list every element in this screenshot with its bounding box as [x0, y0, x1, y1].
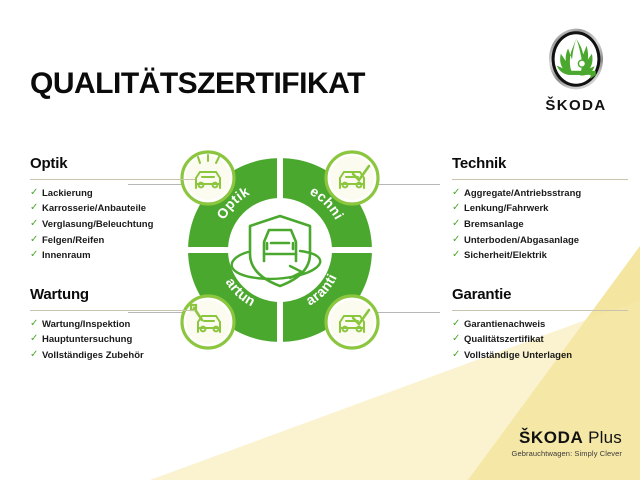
list-item-label: Wartung/Inspektion [42, 319, 130, 330]
list-item-label: Aggregate/Antriebsstrang [464, 188, 581, 199]
list-item-label: Vollständiges Zubehör [42, 350, 144, 361]
list-item-label: Sicherheit/Elektrik [464, 250, 547, 261]
list-item: ✓Unterboden/Abgasanlage [452, 235, 628, 246]
section-heading-optik: Optik [30, 156, 195, 173]
badge-garantie [326, 296, 378, 348]
section-rule [452, 310, 628, 311]
list-item-label: Karrosserie/Anbauteile [42, 203, 146, 214]
check-icon: ✓ [452, 334, 460, 344]
list-item: ✓Hauptuntersuchung [30, 334, 195, 345]
section-technik: Technik ✓Aggregate/Antriebsstrang ✓Lenku… [452, 156, 628, 266]
list-item-label: Garantienachweis [464, 319, 545, 330]
badge-technik [326, 152, 378, 204]
section-list-wartung: ✓Wartung/Inspektion ✓Hauptuntersuchung ✓… [30, 319, 195, 362]
list-item: ✓Felgen/Reifen [30, 235, 195, 246]
check-icon: ✓ [452, 188, 460, 198]
check-icon: ✓ [452, 250, 460, 260]
list-item-label: Verglasung/Beleuchtung [42, 219, 153, 230]
section-rule [452, 179, 628, 180]
check-icon: ✓ [452, 219, 460, 229]
check-icon: ✓ [30, 250, 38, 260]
list-item: ✓Verglasung/Beleuchtung [30, 219, 195, 230]
list-item-label: Bremsanlage [464, 219, 524, 230]
list-item: ✓Innenraum [30, 250, 195, 261]
check-icon: ✓ [30, 319, 38, 329]
list-item: ✓Vollständige Unterlagen [452, 350, 628, 361]
list-item: ✓Sicherheit/Elektrik [452, 250, 628, 261]
list-item: ✓Garantienachweis [452, 319, 628, 330]
list-item-label: Lackierung [42, 188, 93, 199]
check-icon: ✓ [30, 219, 38, 229]
section-list-technik: ✓Aggregate/Antriebsstrang ✓Lenkung/Fahrw… [452, 188, 628, 262]
quality-wheel-diagram: Optik Technik Wartung Garantie [178, 148, 382, 352]
check-icon: ✓ [30, 235, 38, 245]
footer-skoda-wordmark: ŠKODA [519, 428, 583, 447]
section-heading-wartung: Wartung [30, 287, 195, 304]
section-garantie: Garantie ✓Garantienachweis ✓Qualitätszer… [452, 287, 628, 366]
section-rule [30, 310, 195, 311]
list-item: ✓Lackierung [30, 188, 195, 199]
footer-plus-label: Plus [588, 428, 622, 447]
list-item-label: Felgen/Reifen [42, 235, 104, 246]
skoda-wordmark: ŠKODA [534, 98, 618, 113]
list-item: ✓Bremsanlage [452, 219, 628, 230]
check-icon: ✓ [452, 235, 460, 245]
list-item: ✓Lenkung/Fahrwerk [452, 203, 628, 214]
section-rule [30, 179, 195, 180]
check-icon: ✓ [452, 350, 460, 360]
list-item-label: Qualitätszertifikat [464, 334, 544, 345]
skoda-logo: ŠKODA [534, 26, 618, 113]
section-wartung: Wartung ✓Wartung/Inspektion ✓Hauptunters… [30, 287, 195, 366]
footer-brand-name: ŠKODA Plus [512, 429, 622, 446]
check-icon: ✓ [30, 203, 38, 213]
certificate-page: QUALITÄTSZERTIFIKAT [0, 0, 640, 480]
list-item: ✓Aggregate/Antriebsstrang [452, 188, 628, 199]
connector-line-garantie [374, 312, 440, 313]
skoda-winged-arrow-logo-icon [543, 26, 609, 92]
section-heading-garantie: Garantie [452, 287, 628, 304]
footer-tagline: Gebrauchtwagen: Simply Clever [512, 449, 622, 458]
check-icon: ✓ [30, 350, 38, 360]
check-icon: ✓ [452, 203, 460, 213]
check-icon: ✓ [452, 319, 460, 329]
list-item-label: Unterboden/Abgasanlage [464, 235, 579, 246]
list-item: ✓Qualitätszertifikat [452, 334, 628, 345]
section-heading-technik: Technik [452, 156, 628, 173]
section-optik: Optik ✓Lackierung ✓Karrosserie/Anbauteil… [30, 156, 195, 266]
list-item: ✓Wartung/Inspektion [30, 319, 195, 330]
list-item: ✓Vollständiges Zubehör [30, 350, 195, 361]
list-item-label: Vollständige Unterlagen [464, 350, 572, 361]
page-title: QUALITÄTSZERTIFIKAT [30, 69, 365, 99]
section-list-garantie: ✓Garantienachweis ✓Qualitätszertifikat ✓… [452, 319, 628, 362]
section-list-optik: ✓Lackierung ✓Karrosserie/Anbauteile ✓Ver… [30, 188, 195, 262]
shield-car-orbit-icon [232, 216, 321, 286]
list-item-label: Lenkung/Fahrwerk [464, 203, 548, 214]
list-item: ✓Karrosserie/Anbauteile [30, 203, 195, 214]
check-icon: ✓ [30, 334, 38, 344]
list-item-label: Hauptuntersuchung [42, 334, 132, 345]
footer-brand: ŠKODA Plus Gebrauchtwagen: Simply Clever [512, 429, 622, 458]
connector-line-technik [374, 184, 440, 185]
check-icon: ✓ [30, 188, 38, 198]
list-item-label: Innenraum [42, 250, 91, 261]
